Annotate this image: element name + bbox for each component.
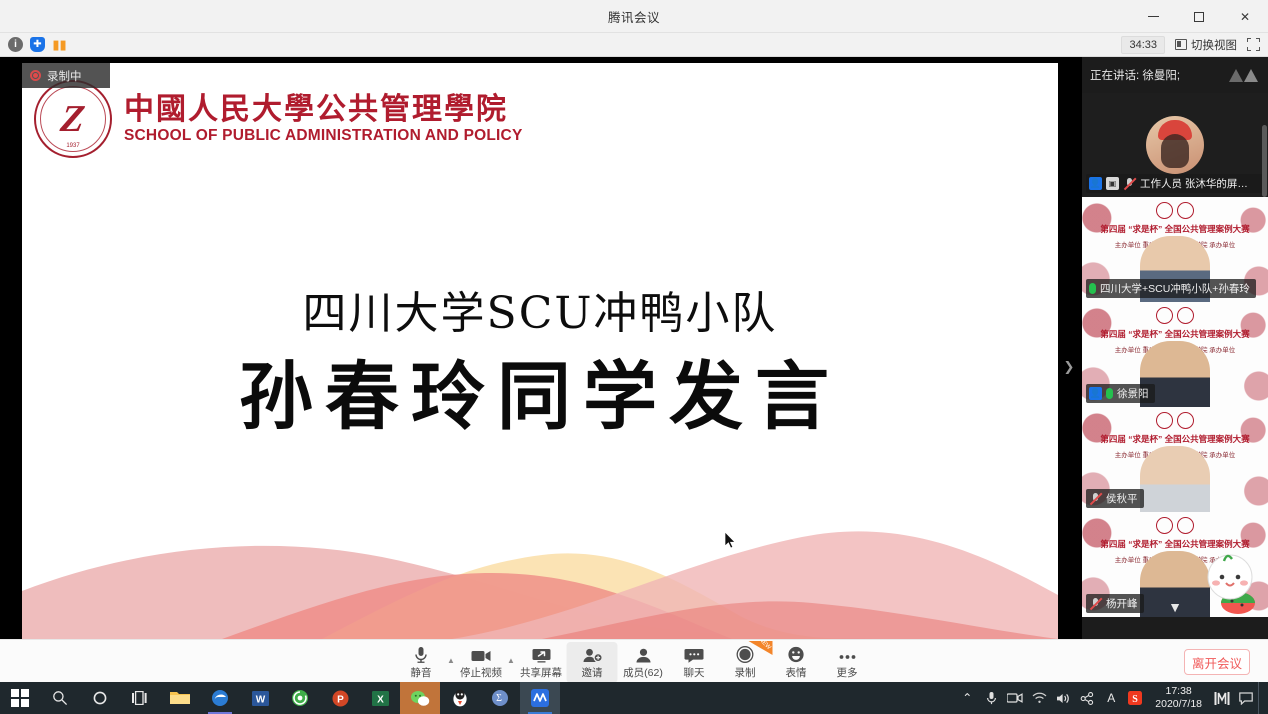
participant-name: 工作人员 张沐华的屏幕共享 (1140, 176, 1258, 191)
svg-text:W: W (255, 694, 265, 705)
search-button[interactable] (40, 682, 80, 714)
logo-english-name: SCHOOL OF PUBLIC ADMINISTRATION AND POLI… (124, 126, 522, 145)
chevron-right-icon: ❯ (1064, 359, 1075, 375)
shared-screen-area[interactable]: 录制中 Z 1937 中國人民大學公共管理學院 SCHOOL OF PUBLIC… (22, 63, 1058, 639)
active-speaker-label: 正在讲话: 徐曼阳; (1090, 67, 1180, 83)
seal-char: Z (58, 97, 87, 141)
qq[interactable] (440, 682, 480, 714)
minimize-button[interactable] (1130, 0, 1176, 33)
user-icon: 👤 (1089, 177, 1102, 190)
sub-toolbar-right: 34:33 切换视图 (1121, 36, 1268, 54)
participant-name-chip: 杨开峰 (1086, 594, 1144, 613)
university-seal-icon: Z 1937 (34, 80, 112, 158)
chevron-down-icon[interactable]: ▼ (1168, 599, 1182, 615)
chat-button[interactable]: 聊天 (669, 642, 720, 683)
new-badge: NEW (749, 641, 773, 655)
taskbar-clock[interactable]: 17:38 2020/7/18 (1147, 682, 1210, 714)
stop-video-label: 停止视频 (460, 665, 502, 680)
emoji-icon (788, 645, 805, 663)
start-button[interactable] (0, 682, 40, 714)
more-icon (837, 645, 857, 663)
screen-share-icon (531, 645, 551, 663)
wechat[interactable] (400, 682, 440, 714)
tencent-meeting[interactable] (520, 682, 560, 714)
folder-icon (170, 690, 190, 706)
participant-tile[interactable]: 第四届 “求是杯” 全国公共管理案例大赛 主办单位 重庆大学公共管理学院 承办单… (1082, 197, 1268, 302)
tencent-meeting-window: 腾讯会议 ✕ i ✚ ▮▮ 34:33 切换视图 录制中 (0, 0, 1268, 714)
mic-muted-icon (1089, 492, 1102, 505)
meeting-body: 录制中 Z 1937 中國人民大學公共管理學院 SCHOOL OF PUBLIC… (0, 57, 1268, 639)
control-buttons: 静音 ▲ 停止视频 ▲ 共享屏幕 邀请 (396, 640, 873, 683)
user-icon: 👤 (1089, 387, 1102, 400)
shield-icon[interactable]: ✚ (30, 37, 45, 52)
panel-collapse-handle[interactable]: ❯ (1062, 347, 1076, 387)
svg-text:X: X (377, 694, 384, 705)
wifi-icon[interactable] (1027, 682, 1051, 714)
stop-video-button[interactable]: 停止视频 (456, 642, 507, 683)
mute-label: 静音 (411, 665, 432, 680)
svg-text:S: S (1133, 694, 1139, 705)
maximize-button[interactable] (1176, 0, 1222, 33)
qq-icon (452, 689, 468, 707)
chat-label: 聊天 (684, 665, 705, 680)
file-explorer[interactable] (160, 682, 200, 714)
record-button[interactable]: 录制 NEW (720, 642, 771, 683)
backdrop-title: 第四届 “求是杯” 全国公共管理案例大赛 (1100, 328, 1249, 340)
participant-tile[interactable]: 第四届 “求是杯” 全国公共管理案例大赛 主办单位 重庆大学公共管理学院 承办单… (1082, 512, 1268, 617)
svg-text:Σ: Σ (496, 693, 502, 704)
word[interactable]: W (240, 682, 280, 714)
record-label: 录制 (735, 665, 756, 680)
switch-view-icon (1175, 39, 1187, 50)
participant-name-chip: 四川大学+SCU冲鸭小队+孙春玲 (1086, 279, 1256, 298)
panel-scrollbar[interactable] (1262, 125, 1267, 197)
emoji-label: 表情 (786, 665, 807, 680)
mathtype-icon: Σ (491, 689, 509, 707)
window-title-bar: 腾讯会议 ✕ (0, 0, 1268, 33)
mic-on-icon (1089, 283, 1096, 294)
svg-text:P: P (337, 694, 344, 705)
ime-icon[interactable]: A (1099, 682, 1123, 714)
info-icon[interactable]: i (8, 37, 23, 52)
backdrop-seal-icon (1156, 202, 1194, 219)
participant-name-chip: 👤 ▣ 工作人员 张沐华的屏幕共享 (1086, 174, 1264, 193)
leave-meeting-button[interactable]: 离开会议 (1184, 649, 1250, 675)
task-view-icon (132, 691, 149, 705)
meeting-control-bar: 静音 ▲ 停止视频 ▲ 共享屏幕 邀请 (0, 639, 1268, 682)
recording-indicator: 录制中 (22, 63, 110, 88)
share-screen-button[interactable]: 共享屏幕 (516, 642, 567, 683)
avatar (1146, 116, 1204, 174)
camera-icon (471, 645, 491, 663)
window-title: 腾讯会议 (608, 7, 660, 26)
sogou-icon[interactable]: S (1123, 682, 1147, 714)
slide-line-2: 孙春玲同学发言 (22, 337, 1058, 444)
participant-name: 侯秋平 (1106, 491, 1138, 506)
invite-button[interactable]: 邀请 (567, 642, 618, 683)
members-label: 成员(62) (623, 665, 663, 680)
wechat-icon (410, 690, 430, 707)
search-icon (52, 690, 68, 706)
windows-logo-icon (11, 689, 29, 707)
recording-label: 录制中 (47, 68, 82, 84)
share-icon[interactable] (1075, 682, 1099, 714)
mute-button[interactable]: 静音 (396, 642, 447, 683)
backdrop-title: 第四届 “求是杯” 全国公共管理案例大赛 (1100, 433, 1249, 445)
mic-muted-icon (1123, 177, 1136, 190)
word-icon: W (252, 690, 269, 707)
meeting-sub-toolbar: i ✚ ▮▮ 34:33 切换视图 (0, 33, 1268, 57)
fullscreen-icon[interactable] (1247, 38, 1260, 51)
stats-icon[interactable]: ▮▮ (52, 37, 67, 52)
mute-options-caret-icon[interactable]: ▲ (447, 640, 456, 681)
seal-year: 1937 (66, 143, 79, 149)
participant-name: 徐景阳 (1117, 386, 1149, 401)
microphone-icon[interactable] (979, 682, 1003, 714)
participant-tile[interactable]: 👤 ▣ 工作人员 张沐华的屏幕共享 (1082, 93, 1268, 197)
logo-chinese-name: 中國人民大學公共管理學院 (124, 93, 522, 127)
task-view-button[interactable] (120, 682, 160, 714)
excel[interactable]: X (360, 682, 400, 714)
participant-tile[interactable]: 第四届 “求是杯” 全国公共管理案例大赛 主办单位 重庆大学公共管理学院 承办单… (1082, 302, 1268, 407)
browser-360[interactable] (280, 682, 320, 714)
360-browser-icon (291, 689, 309, 707)
microphone-icon (414, 645, 429, 663)
members-button[interactable]: 成员(62) (618, 642, 669, 683)
mathtype-tray-icon[interactable] (1210, 682, 1234, 714)
participants-panel: 正在讲话: 徐曼阳; 👤 ▣ 工作人员 张沐华的屏幕共享 第四届 “求是杯 (1082, 57, 1268, 639)
mouse-cursor (725, 532, 737, 550)
invite-label: 邀请 (582, 665, 603, 680)
camera-icon[interactable] (1003, 682, 1027, 714)
chat-icon (685, 645, 704, 663)
more-label: 更多 (837, 665, 858, 680)
institution-logo: Z 1937 中國人民大學公共管理學院 SCHOOL OF PUBLIC ADM… (34, 80, 522, 158)
backdrop-seal-icon (1156, 307, 1194, 324)
clock-date: 2020/7/18 (1155, 698, 1202, 711)
cartoon-sticker-icon (1194, 545, 1266, 617)
backdrop-seal-icon (1156, 517, 1194, 534)
cortana-button[interactable] (80, 682, 120, 714)
participant-name-chip: 侯秋平 (1086, 489, 1144, 508)
backdrop-seal-icon (1156, 412, 1194, 429)
backdrop-title: 第四届 “求是杯” 全国公共管理案例大赛 (1100, 223, 1249, 235)
tencent-meeting-icon (531, 689, 549, 707)
slide-decorative-waves (22, 499, 1058, 639)
cortana-icon (92, 690, 108, 706)
participant-video (1140, 446, 1210, 512)
tencent-meeting-logo-icon (1229, 69, 1258, 82)
system-tray: ⌃ A S 17:38 2020/7/18 (955, 682, 1268, 714)
invite-icon (582, 645, 602, 663)
edge-browser[interactable] (200, 682, 240, 714)
logo-text-block: 中國人民大學公共管理學院 SCHOOL OF PUBLIC ADMINISTRA… (124, 93, 522, 146)
slide-line-1: 四川大学SCU冲鸭小队 (22, 277, 1058, 341)
video-options-caret-icon[interactable]: ▲ (507, 640, 516, 681)
screen-share-icon: ▣ (1106, 177, 1119, 190)
sub-toolbar-left-icons: i ✚ ▮▮ (0, 37, 67, 52)
more-button[interactable]: 更多 (822, 642, 873, 683)
mic-muted-icon (1089, 597, 1102, 610)
members-icon (634, 645, 652, 663)
show-desktop-button[interactable] (1258, 682, 1266, 714)
mathtype[interactable]: Σ (480, 682, 520, 714)
powerpoint-icon: P (332, 690, 349, 707)
action-center-icon[interactable] (1234, 682, 1258, 714)
chevron-up-icon[interactable]: ⌃ (955, 682, 979, 714)
participant-tile[interactable]: 第四届 “求是杯” 全国公共管理案例大赛 主办单位 重庆大学公共管理学院 承办单… (1082, 407, 1268, 512)
window-controls: ✕ (1130, 0, 1268, 33)
meeting-timer: 34:33 (1121, 36, 1165, 54)
switch-view-label: 切换视图 (1191, 37, 1237, 53)
switch-view-button[interactable]: 切换视图 (1175, 37, 1237, 53)
mic-on-icon (1106, 388, 1113, 399)
windows-taskbar: W P X Σ ⌃ (0, 682, 1268, 714)
participant-name-chip: 👤 徐景阳 (1086, 384, 1155, 403)
volume-icon[interactable] (1051, 682, 1075, 714)
share-screen-label: 共享屏幕 (520, 665, 562, 680)
close-button[interactable]: ✕ (1222, 0, 1268, 33)
edge-icon (211, 689, 229, 707)
participant-name: 四川大学+SCU冲鸭小队+孙春玲 (1100, 281, 1250, 296)
clock-time: 17:38 (1166, 685, 1192, 698)
powerpoint[interactable]: P (320, 682, 360, 714)
emoji-button[interactable]: 表情 (771, 642, 822, 683)
active-speaker-bar: 正在讲话: 徐曼阳; (1082, 57, 1268, 93)
excel-icon: X (372, 690, 389, 707)
participant-name: 杨开峰 (1106, 596, 1138, 611)
taskbar-items: W P X Σ (0, 682, 560, 714)
record-dot-icon (30, 70, 41, 81)
